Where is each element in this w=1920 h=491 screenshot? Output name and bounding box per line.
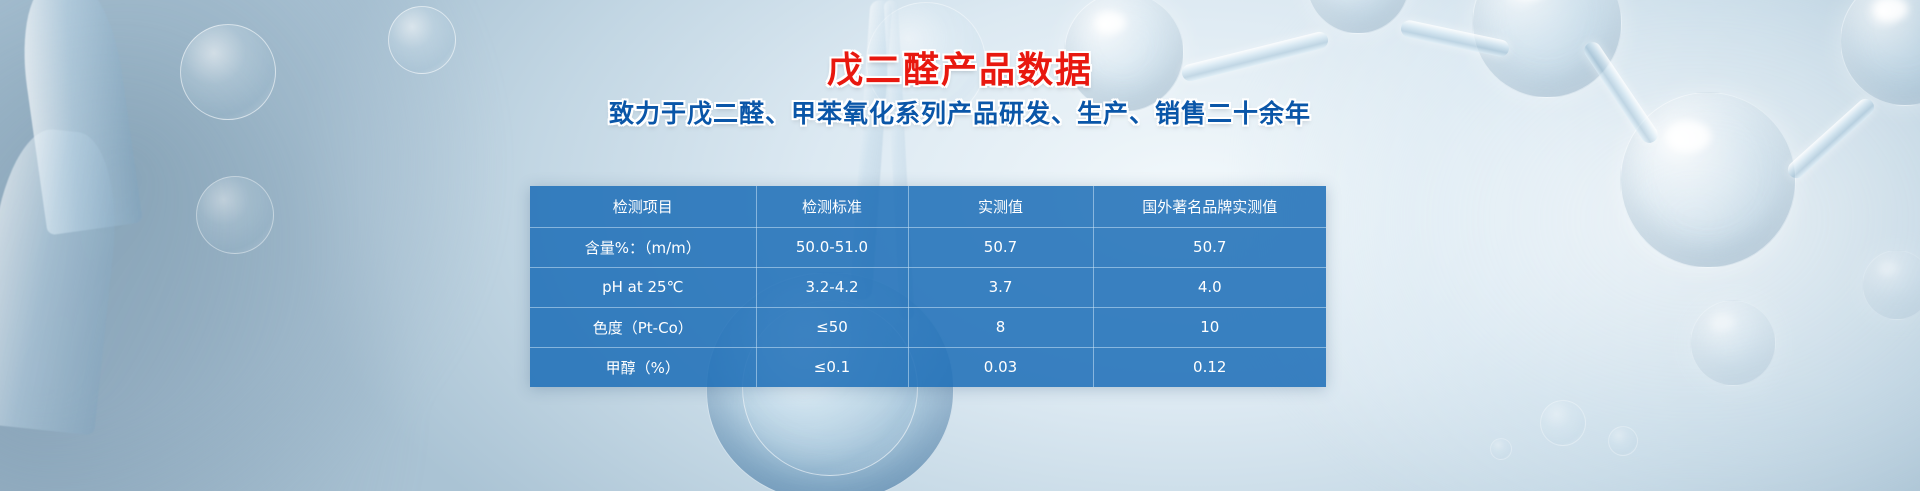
cell-standard: 3.2-4.2 <box>756 267 908 307</box>
bubble-decor-4 <box>1540 400 1586 446</box>
page-subtitle: 致力于戊二醛、甲苯氧化系列产品研发、生产、销售二十余年 <box>0 100 1920 128</box>
cell-standard: ≤0.1 <box>756 347 908 387</box>
bubble-decor-3 <box>196 176 274 254</box>
table-row: 含量%：（m/m） 50.0-51.0 50.7 50.7 <box>530 227 1326 267</box>
cell-standard: 50.0-51.0 <box>756 227 908 267</box>
table-header-row: 检测项目 检测标准 实测值 国外著名品牌实测值 <box>530 186 1326 227</box>
page-title: 戊二醛产品数据 <box>0 52 1920 90</box>
cell-measured: 0.03 <box>908 347 1093 387</box>
column-header-foreign-brand: 国外著名品牌实测值 <box>1093 186 1326 227</box>
cell-item: pH at 25℃ <box>530 267 756 307</box>
spec-table-container: 检测项目 检测标准 实测值 国外著名品牌实测值 含量%：（m/m） 50.0-5… <box>530 186 1326 387</box>
bubble-decor-5 <box>1608 426 1638 456</box>
cell-item: 色度（Pt-Co） <box>530 307 756 347</box>
table-row: 甲醇（%） ≤0.1 0.03 0.12 <box>530 347 1326 387</box>
product-spec-table: 检测项目 检测标准 实测值 国外著名品牌实测值 含量%：（m/m） 50.0-5… <box>530 186 1326 387</box>
bubble-decor-6 <box>1490 438 1512 460</box>
cell-foreign-brand: 10 <box>1093 307 1326 347</box>
cell-item: 含量%：（m/m） <box>530 227 756 267</box>
table-row: pH at 25℃ 3.2-4.2 3.7 4.0 <box>530 267 1326 307</box>
cell-item: 甲醇（%） <box>530 347 756 387</box>
banner-heading-block: 戊二醛产品数据 致力于戊二醛、甲苯氧化系列产品研发、生产、销售二十余年 <box>0 52 1920 127</box>
molecule-atom-lower-right <box>1690 300 1776 386</box>
cell-standard: ≤50 <box>756 307 908 347</box>
column-header-item: 检测项目 <box>530 186 756 227</box>
cell-foreign-brand: 0.12 <box>1093 347 1326 387</box>
product-data-banner: 戊二醛产品数据 致力于戊二醛、甲苯氧化系列产品研发、生产、销售二十余年 检测项目… <box>0 0 1920 491</box>
column-header-standard: 检测标准 <box>756 186 908 227</box>
cell-measured: 50.7 <box>908 227 1093 267</box>
column-header-measured: 实测值 <box>908 186 1093 227</box>
table-row: 色度（Pt-Co） ≤50 8 10 <box>530 307 1326 347</box>
cell-measured: 8 <box>908 307 1093 347</box>
cell-foreign-brand: 50.7 <box>1093 227 1326 267</box>
cell-measured: 3.7 <box>908 267 1093 307</box>
cell-foreign-brand: 4.0 <box>1093 267 1326 307</box>
